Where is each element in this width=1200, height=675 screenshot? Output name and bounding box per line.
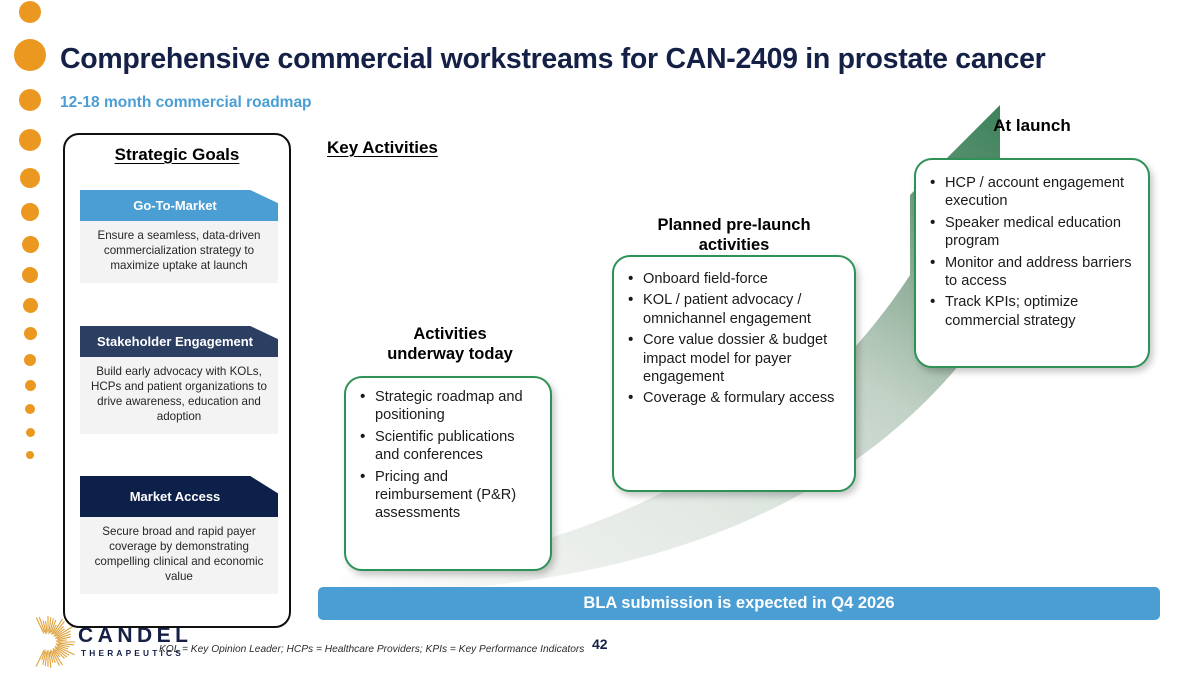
logo-tagline: THERAPEUTICS (81, 648, 184, 658)
goal-header-go-to-market: Go-To-Market (80, 190, 278, 221)
page-title: Comprehensive commercial workstreams for… (60, 43, 1045, 76)
stage-card-planned-pre-launch-activities: Onboard field-forceKOL / patient advocac… (612, 255, 856, 492)
orange-dot (20, 168, 40, 188)
list-item: Scientific publications and conferences (358, 428, 540, 465)
list-item: Track KPIs; optimize commercial strategy (928, 293, 1140, 330)
stage-label-at-launch: At launch (914, 116, 1150, 136)
list-item: Pricing and reimbursement (P&R) assessme… (358, 468, 540, 523)
orange-dot (21, 203, 39, 221)
label-line: activities (699, 236, 770, 254)
bla-submission-banner: BLA submission is expected in Q4 2026 (318, 587, 1160, 620)
stage-list-activities-underway-today: Strategic roadmap and positioningScienti… (346, 378, 550, 523)
orange-dot (24, 354, 36, 366)
goal-go-to-market[interactable]: Go-To-Market Ensure a seamless, data-dri… (80, 190, 278, 283)
goal-market-access[interactable]: Market Access Secure broad and rapid pay… (80, 476, 278, 594)
goal-stakeholder-engagement[interactable]: Stakeholder Engagement Build early advoc… (80, 326, 278, 434)
goal-header-stakeholder-engagement: Stakeholder Engagement (80, 326, 278, 357)
orange-dot (19, 89, 41, 111)
stage-card-at-launch: HCP / account engagement executionSpeake… (914, 158, 1150, 368)
goal-description-market-access: Secure broad and rapid payer coverage by… (80, 517, 278, 593)
orange-dot (24, 327, 37, 340)
orange-dot (23, 298, 38, 313)
orange-dot (19, 129, 41, 151)
orange-dot (25, 404, 35, 414)
stage-label-activities-underway-today: Activitiesunderway today (330, 325, 570, 365)
orange-dot (25, 380, 36, 391)
list-item: Speaker medical education program (928, 214, 1140, 251)
list-item: HCP / account engagement execution (928, 174, 1140, 211)
list-item: Core value dossier & budget impact model… (626, 331, 846, 386)
strategic-goals-title: Strategic Goals (65, 145, 289, 165)
list-item: Coverage & formulary access (626, 389, 846, 407)
goal-header-market-access: Market Access (80, 476, 278, 517)
orange-dot (26, 451, 34, 459)
slide-canvas: Comprehensive commercial workstreams for… (0, 0, 1200, 675)
label-line: Activities (413, 325, 486, 343)
goal-description-go-to-market: Ensure a seamless, data-driven commercia… (80, 221, 278, 282)
page-number: 42 (592, 636, 608, 652)
list-item: Onboard field-force (626, 270, 846, 288)
list-item: Strategic roadmap and positioning (358, 388, 540, 425)
list-item: KOL / patient advocacy / omnichannel eng… (626, 291, 846, 328)
orange-dot (22, 236, 39, 253)
label-line: underway today (387, 345, 513, 363)
stage-card-activities-underway-today: Strategic roadmap and positioningScienti… (344, 376, 552, 571)
label-line: At launch (993, 116, 1070, 135)
orange-dot (14, 39, 46, 71)
stage-label-planned-pre-launch-activities: Planned pre-launchactivities (612, 216, 856, 256)
goal-description-stakeholder-engagement: Build early advocacy with KOLs, HCPs and… (80, 357, 278, 433)
list-item: Monitor and address barriers to access (928, 254, 1140, 291)
stage-list-at-launch: HCP / account engagement executionSpeake… (916, 160, 1148, 330)
orange-dot-rail (0, 0, 60, 675)
stage-list-planned-pre-launch-activities: Onboard field-forceKOL / patient advocac… (614, 257, 854, 408)
orange-dot (19, 1, 41, 23)
orange-dot (22, 267, 38, 283)
page-subtitle: 12-18 month commercial roadmap (60, 94, 312, 112)
orange-dot (26, 428, 35, 437)
footnote-abbreviations: KOL = Key Opinion Leader; HCPs = Healthc… (159, 644, 584, 655)
label-line: Planned pre-launch (657, 216, 810, 234)
strategic-goals-panel: Strategic Goals Go-To-Market Ensure a se… (63, 133, 291, 628)
